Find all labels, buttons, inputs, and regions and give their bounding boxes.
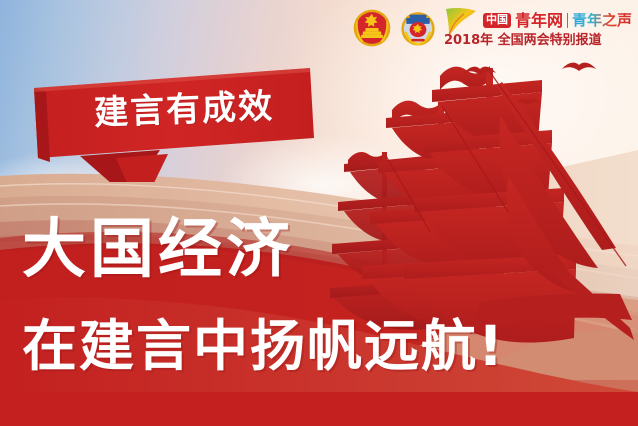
seagulls (430, 55, 630, 145)
speech-banner: 建言有成效 (20, 62, 320, 182)
brand-row-primary: 中国 青年网 青年之声 (444, 9, 632, 33)
cn-chip: 中国 (483, 13, 511, 28)
brand-block: 中国 青年网 青年之声 2018年 全国两会特别报道 (444, 9, 632, 48)
headline-line-1: 大国经济 (22, 215, 294, 285)
special-coverage-subline: 2018年 全国两会特别报道 (444, 34, 632, 48)
brand-divider (567, 13, 568, 28)
voice-label: 青年之声 (572, 13, 632, 28)
header-logo-bar: 中国 青年网 青年之声 2018年 全国两会特别报道 (352, 2, 632, 54)
national-emblem-of-china-icon (352, 8, 392, 48)
site-name-label: 青年网 (515, 13, 563, 29)
poster-canvas: 中国 青年网 青年之声 2018年 全国两会特别报道 (0, 0, 638, 426)
banner-label: 建言有成效 (67, 76, 301, 137)
cppcc-emblem-icon (398, 8, 438, 48)
ginkgo-fan-logo-icon (444, 6, 478, 36)
headline-line-2: 在建言中扬帆远航! (22, 315, 505, 377)
